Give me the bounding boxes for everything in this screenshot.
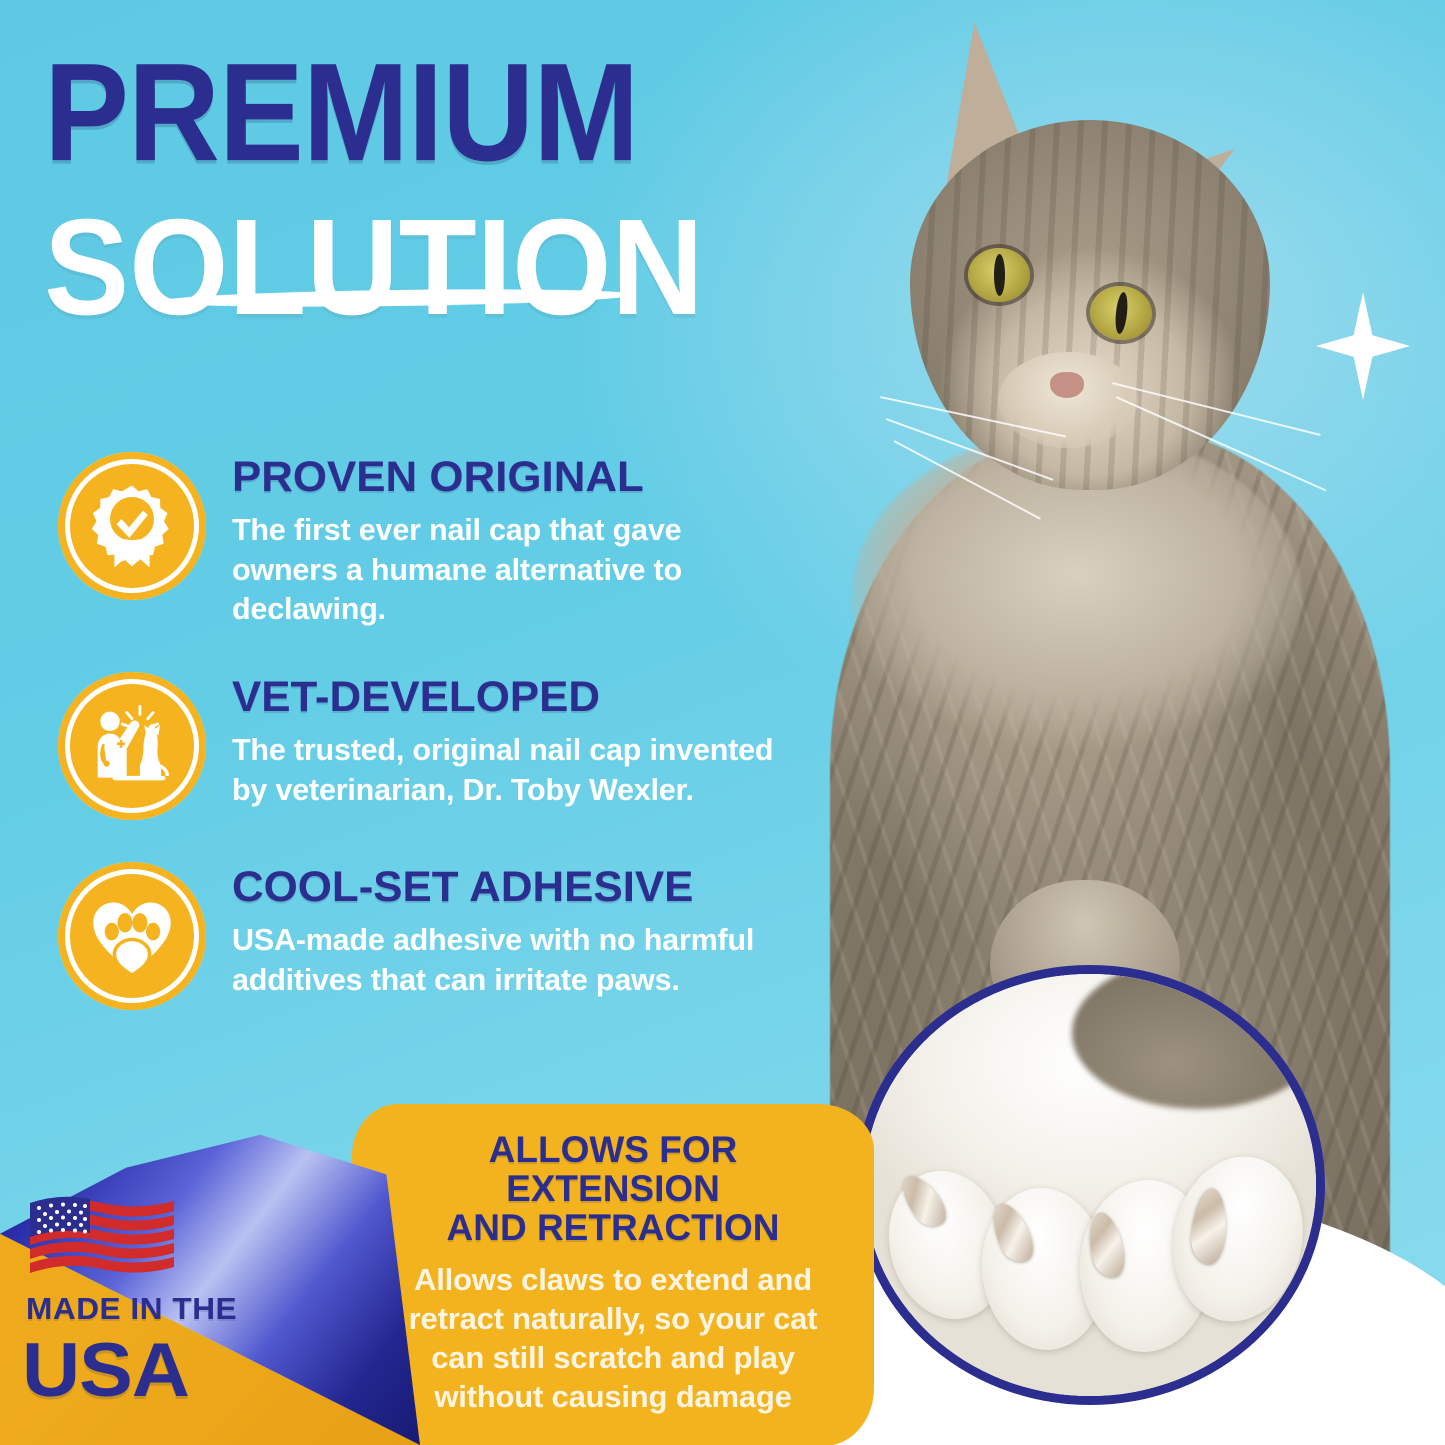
feature-text: VET-DEVELOPED The trusted, original nail… bbox=[232, 672, 812, 810]
usa-flag-icon bbox=[30, 1193, 174, 1277]
headline-line-solution: SOLUTION bbox=[44, 203, 933, 331]
feature-text: PROVEN ORIGINAL The first ever nail cap … bbox=[232, 452, 737, 630]
usa-label: USA bbox=[22, 1333, 189, 1409]
vet-high-five-cat-icon bbox=[88, 702, 176, 790]
cat-nose bbox=[1050, 372, 1084, 398]
callout-title-line-2: AND RETRACTION bbox=[447, 1207, 780, 1248]
callout-body: Allows claws to extend and retract natur… bbox=[382, 1260, 844, 1416]
feature-text: COOL-SET ADHESIVE USA-made adhesive with… bbox=[232, 862, 792, 1000]
icon-circle bbox=[58, 672, 206, 820]
headline-block: PREMIUM SOLUTION bbox=[44, 48, 824, 308]
feature-body: USA-made adhesive with no harmful additi… bbox=[232, 921, 792, 1000]
feature-item-vet-developed: VET-DEVELOPED The trusted, original nail… bbox=[58, 672, 818, 820]
award-ribbon-check-icon bbox=[88, 482, 176, 570]
feature-body: The trusted, original nail cap invented … bbox=[232, 731, 812, 810]
feature-body: The first ever nail cap that gave owners… bbox=[232, 511, 737, 630]
feature-icon-wrap bbox=[58, 452, 206, 600]
product-feature-poster: PREMIUM SOLUTION bbox=[0, 0, 1445, 1445]
feature-item-proven-original: PROVEN ORIGINAL The first ever nail cap … bbox=[58, 452, 818, 630]
feature-icon-wrap bbox=[58, 862, 206, 1010]
cat-muzzle bbox=[998, 352, 1138, 448]
icon-circle bbox=[58, 862, 206, 1010]
feature-list: PROVEN ORIGINAL The first ever nail cap … bbox=[58, 452, 818, 1052]
cat-eye-left bbox=[968, 248, 1030, 302]
heart-paw-icon bbox=[88, 892, 176, 980]
feature-title: COOL-SET ADHESIVE bbox=[232, 866, 803, 909]
feature-icon-wrap bbox=[58, 672, 206, 820]
icon-circle bbox=[58, 452, 206, 600]
made-in-the-label: MADE IN THE bbox=[26, 1291, 237, 1327]
extension-retraction-callout: ALLOWS FOR EXTENSION AND RETRACTION Allo… bbox=[352, 1104, 874, 1445]
headline-line-premium: PREMIUM bbox=[44, 48, 886, 179]
feature-title: VET-DEVELOPED bbox=[232, 676, 824, 719]
cat-paw-with-nail-caps-closeup bbox=[855, 965, 1325, 1405]
feature-title: PROVEN ORIGINAL bbox=[232, 456, 747, 499]
made-in-usa-corner: MADE IN THE USA bbox=[0, 1115, 420, 1445]
callout-title: ALLOWS FOR EXTENSION AND RETRACTION bbox=[382, 1130, 844, 1248]
feature-item-cool-set-adhesive: COOL-SET ADHESIVE USA-made adhesive with… bbox=[58, 862, 818, 1010]
callout-title-line-1: ALLOWS FOR EXTENSION bbox=[489, 1129, 738, 1209]
